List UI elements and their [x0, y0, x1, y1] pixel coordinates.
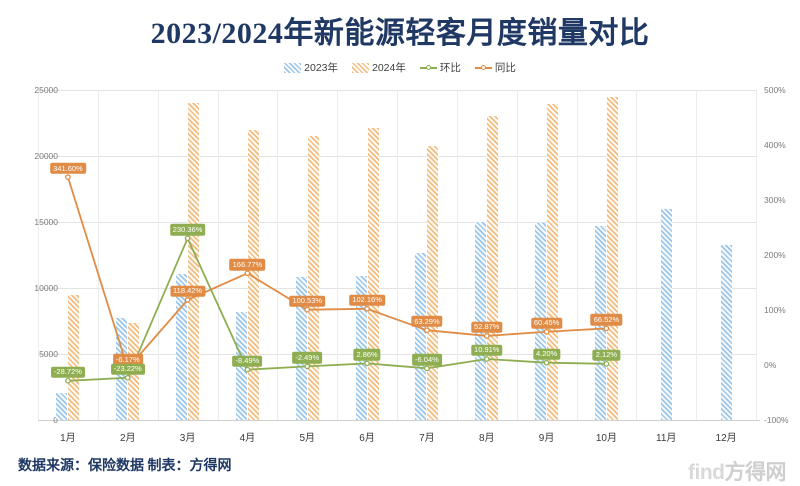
data-label: 60.45%: [531, 318, 562, 329]
line-marker[interactable]: [305, 364, 309, 368]
watermark: find方得网: [688, 456, 786, 486]
line-marker[interactable]: [485, 334, 489, 338]
data-label: 52.87%: [471, 322, 502, 333]
x-axis-tick: 10月: [596, 429, 617, 444]
data-label: 4.20%: [533, 348, 560, 359]
data-label: 2.12%: [593, 350, 620, 361]
chart-title: 2023/2024年新能源轻客月度销量对比: [0, 8, 800, 52]
data-label: -23.22%: [111, 364, 145, 375]
x-axis-tick: 4月: [240, 429, 256, 444]
legend-item-huanbi[interactable]: 环比: [420, 60, 461, 75]
data-label: 63.29%: [411, 316, 442, 327]
legend-item-series2024[interactable]: 2024年: [352, 60, 406, 75]
line-marker[interactable]: [604, 362, 608, 366]
chart-page: 2023/2024年新能源轻客月度销量对比 2023年2024年环比同比 050…: [0, 0, 800, 484]
data-label: 341.60%: [50, 163, 86, 174]
line-marker[interactable]: [245, 367, 249, 371]
watermark-cn: 方得网: [725, 461, 787, 484]
legend-label: 2023年: [304, 60, 338, 75]
x-axis-labels: 1月2月3月4月5月6月7月8月9月10月11月12月: [38, 429, 756, 449]
legend-line-huanbi-icon: [420, 63, 437, 73]
x-axis-tick: 9月: [539, 429, 555, 444]
legend-swatch-series2024-icon: [352, 63, 369, 73]
data-label: 230.36%: [170, 224, 206, 235]
plot-area: 0500010000150002000025000 -100%0%100%200…: [0, 82, 800, 427]
x-axis-tick: 8月: [479, 429, 495, 444]
legend-label: 环比: [440, 60, 461, 75]
line-marker[interactable]: [66, 379, 70, 383]
line-marker[interactable]: [485, 357, 489, 361]
data-label: 100.53%: [289, 295, 325, 306]
x-axis-tick: 3月: [180, 429, 196, 444]
line-marker[interactable]: [126, 376, 130, 380]
legend-item-tongbi[interactable]: 同比: [475, 60, 516, 75]
x-axis-tick: 1月: [60, 429, 76, 444]
line-marker[interactable]: [544, 330, 548, 334]
legend-swatch-series2023-icon: [284, 63, 301, 73]
data-label: 166.77%: [230, 259, 266, 270]
data-label: -28.72%: [51, 367, 85, 378]
line-marker[interactable]: [245, 271, 249, 275]
x-axis-tick: 2月: [120, 429, 136, 444]
legend-label: 同比: [495, 60, 516, 75]
legend-item-series2023[interactable]: 2023年: [284, 60, 338, 75]
legend-label: 2024年: [372, 60, 406, 75]
line-marker[interactable]: [185, 236, 189, 240]
data-label: -6.04%: [412, 354, 442, 365]
data-label: 10.91%: [471, 345, 502, 356]
data-label: 66.52%: [591, 314, 622, 325]
chart-legend: 2023年2024年环比同比: [0, 60, 800, 75]
data-label: 2.86%: [353, 349, 380, 360]
line-marker[interactable]: [365, 361, 369, 365]
line-series-layer: [0, 82, 800, 427]
x-axis-tick: 11月: [656, 429, 676, 444]
legend-line-tongbi-icon: [475, 63, 492, 73]
line-marker[interactable]: [604, 326, 608, 330]
line-marker[interactable]: [185, 298, 189, 302]
x-axis-tick: 12月: [716, 429, 737, 444]
line-marker[interactable]: [425, 328, 429, 332]
line-tongbi: [68, 177, 607, 368]
data-label: -8.49%: [233, 355, 263, 366]
line-marker[interactable]: [425, 366, 429, 370]
line-marker[interactable]: [544, 360, 548, 364]
line-marker[interactable]: [305, 308, 309, 312]
data-label: -2.49%: [292, 352, 322, 363]
line-marker[interactable]: [66, 175, 70, 179]
x-axis-tick: 5月: [299, 429, 315, 444]
data-label: 102.16%: [349, 295, 385, 306]
x-axis-tick: 6月: [359, 429, 375, 444]
watermark-latin: find: [688, 461, 724, 484]
x-axis-tick: 7月: [419, 429, 435, 444]
data-label: 118.42%: [170, 286, 205, 297]
source-note: 数据来源：保险数据 制表：方得网: [18, 455, 232, 475]
line-marker[interactable]: [365, 307, 369, 311]
